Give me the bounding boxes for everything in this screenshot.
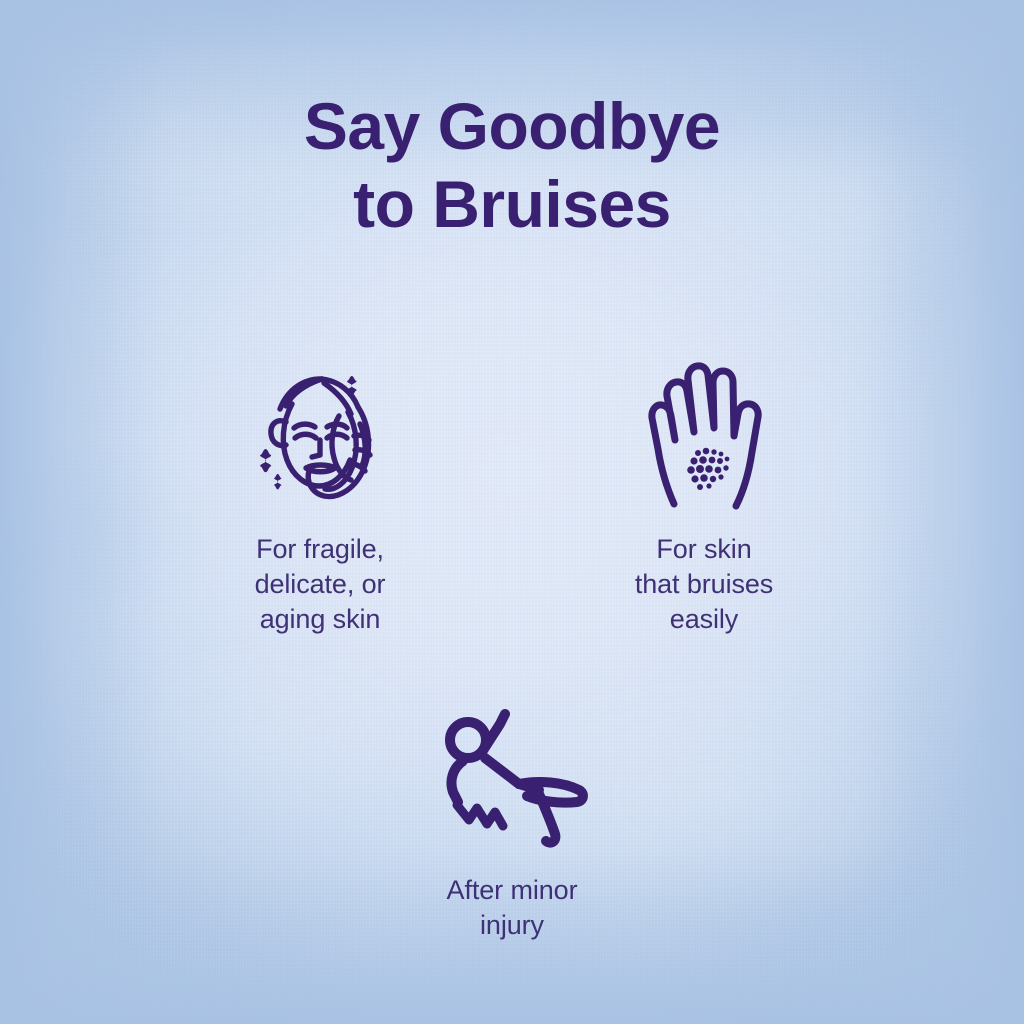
poster: Say Goodbye to Bruises <box>0 0 1024 1024</box>
falling-person-icon <box>427 702 597 852</box>
icon-container <box>628 352 780 518</box>
slip-zigzag <box>457 805 503 826</box>
woman-face-icon <box>236 352 404 518</box>
benefit-caption: For skin that bruises easily <box>635 532 773 637</box>
icon-container <box>236 352 404 518</box>
benefit-card-fragile-skin: For fragile, delicate, or aging skin <box>207 352 433 637</box>
benefit-cards: For fragile, delicate, or aging skin <box>0 352 1024 943</box>
icon-container <box>427 697 597 857</box>
benefit-row-bottom: After minor injury <box>0 697 1024 943</box>
bruise-dots <box>687 448 729 490</box>
poster-content: Say Goodbye to Bruises <box>0 0 1024 1024</box>
benefit-card-bruises-easily: For skin that bruises easily <box>591 352 817 637</box>
benefit-row-top: For fragile, delicate, or aging skin <box>0 352 1024 637</box>
page-title: Say Goodbye to Bruises <box>0 88 1024 244</box>
benefit-card-minor-injury: After minor injury <box>399 697 625 943</box>
benefit-caption: For fragile, delicate, or aging skin <box>255 532 386 637</box>
benefit-caption: After minor injury <box>447 873 578 943</box>
bruised-hand-icon <box>628 352 780 518</box>
